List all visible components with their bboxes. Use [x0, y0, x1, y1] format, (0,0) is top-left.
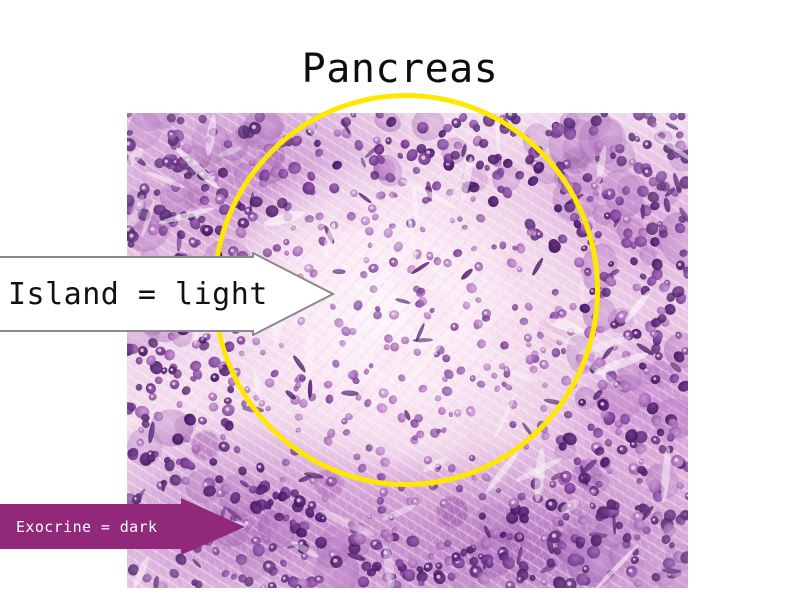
exocrine-arrow-label: Exocrine = dark [16, 498, 196, 556]
page-title: Pancreas [0, 46, 800, 92]
island-annotation-arrow[interactable]: Island = light [0, 252, 336, 336]
slide-canvas: Pancreas Island = light Exocrine = dark [0, 0, 800, 600]
exocrine-annotation-arrow[interactable]: Exocrine = dark [0, 498, 246, 556]
island-arrow-label: Island = light [8, 252, 258, 336]
